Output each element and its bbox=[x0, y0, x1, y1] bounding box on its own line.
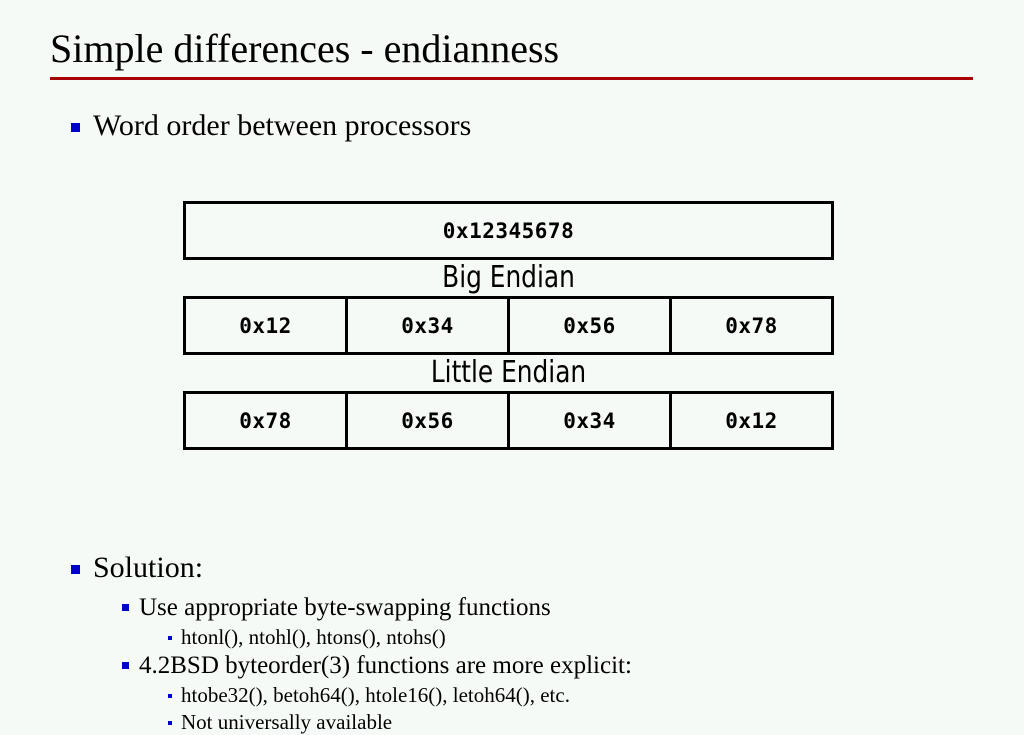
bullet-word-order-label: Word order between processors bbox=[93, 109, 471, 143]
square-bullet-icon bbox=[71, 565, 80, 574]
dot-bullet-icon bbox=[168, 694, 172, 698]
dot-bullet-icon bbox=[168, 636, 172, 640]
bullet-solution-label: Solution: bbox=[93, 551, 203, 585]
little-endian-byte-0: 0x78 bbox=[183, 391, 348, 450]
square-bullet-icon bbox=[122, 662, 129, 669]
little-endian-byte-3: 0x12 bbox=[669, 391, 834, 450]
word-row: 0x12345678 bbox=[183, 201, 834, 260]
bullet-htobe-family-label: htobe32(), betoh64(), htole16(), letoh64… bbox=[181, 683, 570, 708]
dot-bullet-icon bbox=[168, 721, 172, 725]
big-endian-byte-0: 0x12 bbox=[183, 296, 348, 355]
bullet-not-universal-label: Not universally available bbox=[181, 710, 392, 735]
page-title: Simple differences - endianness bbox=[50, 26, 974, 72]
slide: Simple differences - endianness Word ord… bbox=[0, 0, 1024, 724]
square-bullet-icon bbox=[122, 604, 129, 611]
big-endian-label: Big Endian bbox=[209, 260, 808, 296]
little-endian-byte-1: 0x56 bbox=[345, 391, 510, 450]
big-endian-byte-1: 0x34 bbox=[345, 296, 510, 355]
bullet-htonl-family-label: htonl(), ntohl(), htons(), ntohs() bbox=[181, 625, 446, 650]
square-bullet-icon bbox=[71, 123, 80, 132]
little-endian-row: 0x78 0x56 0x34 0x12 bbox=[183, 391, 834, 450]
little-endian-label: Little Endian bbox=[209, 355, 808, 391]
word-cell: 0x12345678 bbox=[183, 201, 834, 260]
title-underline-rule bbox=[50, 77, 973, 80]
bullet-not-universal: Not universally available bbox=[168, 710, 392, 735]
bullet-byte-swapping: Use appropriate byte-swapping functions bbox=[122, 593, 551, 622]
bullet-solution: Solution: bbox=[71, 551, 203, 585]
big-endian-byte-3: 0x78 bbox=[669, 296, 834, 355]
bullet-htobe-family: htobe32(), betoh64(), htole16(), letoh64… bbox=[168, 683, 570, 708]
bullet-htonl-family: htonl(), ntohl(), htons(), ntohs() bbox=[168, 625, 446, 650]
endianness-diagram: 0x12345678 Big Endian 0x12 0x34 0x56 0x7… bbox=[183, 201, 834, 450]
bullet-byteorder: 4.2BSD byteorder(3) functions are more e… bbox=[122, 651, 632, 680]
little-endian-byte-2: 0x34 bbox=[507, 391, 672, 450]
big-endian-byte-2: 0x56 bbox=[507, 296, 672, 355]
title-block: Simple differences - endianness bbox=[50, 26, 974, 80]
bullet-byte-swapping-label: Use appropriate byte-swapping functions bbox=[139, 593, 551, 622]
big-endian-row: 0x12 0x34 0x56 0x78 bbox=[183, 296, 834, 355]
bullet-byteorder-label: 4.2BSD byteorder(3) functions are more e… bbox=[139, 651, 632, 680]
bullet-word-order: Word order between processors bbox=[71, 109, 471, 143]
